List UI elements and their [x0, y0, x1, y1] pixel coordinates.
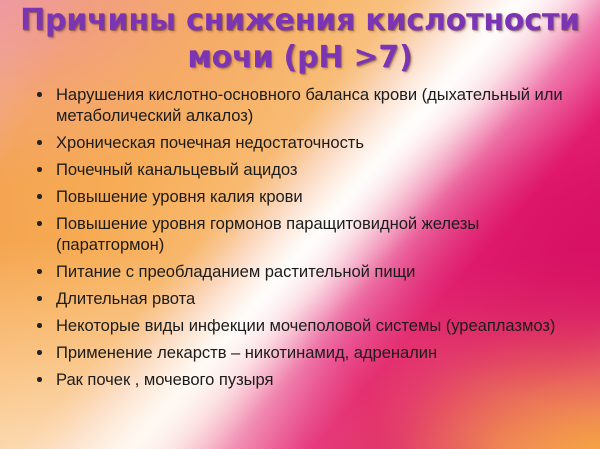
bullet-list: Нарушения кислотно-основного баланса кро… — [30, 84, 578, 390]
list-item: Питание с преобладанием растительной пищ… — [30, 261, 578, 282]
slide-title: Причины снижения кислотности мочи (pH >7… — [0, 2, 600, 76]
list-item-label: Повышение уровня калия крови — [56, 186, 578, 207]
bullet-dot-icon — [37, 221, 42, 226]
list-item-label: Длительная рвота — [56, 288, 578, 309]
bullet-dot-icon — [37, 167, 42, 172]
slide-content: Причины снижения кислотности мочи (pH >7… — [0, 0, 600, 449]
list-item-label: Питание с преобладанием растительной пищ… — [56, 261, 578, 282]
list-item-label: Рак почек , мочевого пузыря — [56, 369, 578, 390]
bullet-dot-icon — [37, 92, 42, 97]
list-item: Некоторые виды инфекции мочеполовой сист… — [30, 315, 578, 336]
list-item: Хроническая почечная недостаточность — [30, 132, 578, 153]
list-item: Применение лекарств – никотинамид, адрен… — [30, 342, 578, 363]
list-item-label: Нарушения кислотно-основного баланса кро… — [56, 84, 578, 126]
bullet-dot-icon — [37, 323, 42, 328]
list-item-label: Хроническая почечная недостаточность — [56, 132, 578, 153]
list-item-label: Почечный канальцевый ацидоз — [56, 159, 578, 180]
bullet-dot-icon — [37, 296, 42, 301]
bullet-dot-icon — [37, 269, 42, 274]
list-item-label: Применение лекарств – никотинамид, адрен… — [56, 342, 578, 363]
bullet-dot-icon — [37, 377, 42, 382]
list-item: Почечный канальцевый ацидоз — [30, 159, 578, 180]
list-item-label: Повышение уровня гормонов паращитовидной… — [56, 213, 578, 255]
presentation-slide: Причины снижения кислотности мочи (pH >7… — [0, 0, 600, 449]
list-item-label: Некоторые виды инфекции мочеполовой сист… — [56, 315, 578, 336]
list-item: Нарушения кислотно-основного баланса кро… — [30, 84, 578, 126]
bullet-dot-icon — [37, 140, 42, 145]
list-item: Длительная рвота — [30, 288, 578, 309]
list-item: Повышение уровня гормонов паращитовидной… — [30, 213, 578, 255]
list-item: Рак почек , мочевого пузыря — [30, 369, 578, 390]
list-item: Повышение уровня калия крови — [30, 186, 578, 207]
bullet-dot-icon — [37, 194, 42, 199]
bullet-dot-icon — [37, 350, 42, 355]
